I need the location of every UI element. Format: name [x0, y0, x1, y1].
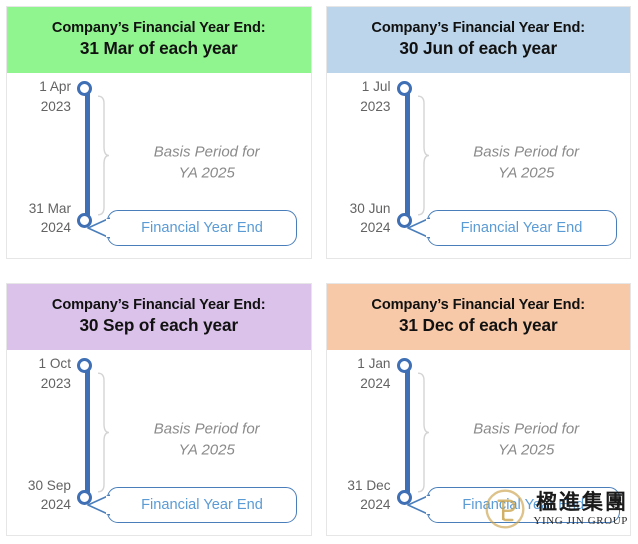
- panel-body-fye-30-sep: 1 Oct 2023 30 Sep 2024 Basis Period for …: [7, 350, 311, 535]
- callout-tail-icon: [406, 492, 430, 518]
- basis-period-text: Basis Period for YA 2025: [111, 418, 303, 461]
- callout-tail-icon: [406, 215, 430, 241]
- timeline-start-node: [397, 81, 412, 96]
- panel-header-fye-30-jun: Company’s Financial Year End: 30 Jun of …: [327, 7, 631, 73]
- callout-label: Financial Year End: [462, 497, 584, 513]
- timeline-end-label-line2: 2024: [7, 495, 71, 515]
- panel-header-fye-31-dec: Company’s Financial Year End: 31 Dec of …: [327, 284, 631, 350]
- callout-label: Financial Year End: [141, 497, 263, 513]
- timeline-start-label: 1 Jul 2023: [327, 77, 391, 116]
- panel-body-fye-31-dec: 1 Jan 2024 31 Dec 2024 Basis Period for …: [327, 350, 631, 535]
- timeline-end-label: 31 Dec 2024: [327, 476, 391, 515]
- panel-body-fye-30-jun: 1 Jul 2023 30 Jun 2024 Basis Period for …: [327, 73, 631, 258]
- timeline-end-label: 31 Mar 2024: [7, 199, 71, 238]
- callout-label: Financial Year End: [141, 220, 263, 236]
- timeline-start-node: [397, 358, 412, 373]
- basis-period-brace-icon: [97, 95, 109, 216]
- basis-period-line1: Basis Period for: [111, 141, 303, 162]
- header-line-1: Company’s Financial Year End:: [371, 19, 585, 37]
- basis-period-brace-icon: [417, 372, 429, 493]
- timeline-start-label: 1 Oct 2023: [7, 354, 71, 393]
- timeline-start-label-line2: 2023: [7, 374, 71, 394]
- basis-period-text: Basis Period for YA 2025: [431, 141, 623, 184]
- basis-period-line1: Basis Period for: [431, 141, 623, 162]
- callout-label: Financial Year End: [461, 220, 583, 236]
- callout-tail-icon: [86, 215, 110, 241]
- timeline-end-label-line1: 30 Sep: [7, 476, 71, 496]
- timeline-start-label-line1: 1 Apr: [7, 77, 71, 97]
- timeline-start-label-line2: 2023: [327, 97, 391, 117]
- timeline-start-label-line1: 1 Oct: [7, 354, 71, 374]
- header-line-1: Company’s Financial Year End:: [52, 296, 266, 314]
- callout-tail-icon: [86, 492, 110, 518]
- basis-period-text: Basis Period for YA 2025: [431, 418, 623, 461]
- timeline-start-label-line1: 1 Jan: [327, 354, 391, 374]
- basis-period-brace-icon: [97, 372, 109, 493]
- timeline-end-label: 30 Sep 2024: [7, 476, 71, 515]
- panel-header-fye-31-mar: Company’s Financial Year End: 31 Mar of …: [7, 7, 311, 73]
- panel-grid: Company’s Financial Year End: 31 Mar of …: [0, 0, 638, 544]
- header-line-2: 31 Mar of each year: [80, 37, 238, 59]
- panel-body-fye-31-mar: 1 Apr 2023 31 Mar 2024 Basis Period for …: [7, 73, 311, 258]
- panel-fye-31-mar: Company’s Financial Year End: 31 Mar of …: [6, 6, 312, 259]
- basis-period-text: Basis Period for YA 2025: [111, 141, 303, 184]
- financial-year-end-callout[interactable]: Financial Year End: [427, 487, 621, 523]
- panel-fye-30-jun: Company’s Financial Year End: 30 Jun of …: [326, 6, 632, 259]
- basis-period-line2: YA 2025: [431, 162, 623, 183]
- financial-year-end-callout[interactable]: Financial Year End: [427, 210, 617, 246]
- financial-year-end-callout[interactable]: Financial Year End: [107, 487, 297, 523]
- header-line-2: 31 Dec of each year: [399, 314, 558, 336]
- timeline-start-label-line2: 2024: [327, 374, 391, 394]
- header-line-1: Company’s Financial Year End:: [371, 296, 585, 314]
- basis-period-line1: Basis Period for: [431, 418, 623, 439]
- basis-period-line2: YA 2025: [111, 162, 303, 183]
- timeline-start-label: 1 Apr 2023: [7, 77, 71, 116]
- timeline-end-label-line2: 2024: [327, 218, 391, 238]
- timeline-end-label-line2: 2024: [327, 495, 391, 515]
- panel-fye-30-sep: Company’s Financial Year End: 30 Sep of …: [6, 283, 312, 536]
- timeline-bar: [405, 87, 410, 222]
- financial-year-end-callout[interactable]: Financial Year End: [107, 210, 297, 246]
- timeline-bar: [85, 87, 90, 222]
- timeline-start-node: [77, 358, 92, 373]
- timeline-bar: [405, 364, 410, 499]
- basis-period-line2: YA 2025: [111, 439, 303, 460]
- timeline-start-label-line1: 1 Jul: [327, 77, 391, 97]
- timeline-start-node: [77, 81, 92, 96]
- basis-period-line2: YA 2025: [431, 439, 623, 460]
- timeline-start-label: 1 Jan 2024: [327, 354, 391, 393]
- basis-period-brace-icon: [417, 95, 429, 216]
- timeline-end-label-line1: 31 Mar: [7, 199, 71, 219]
- panel-header-fye-30-sep: Company’s Financial Year End: 30 Sep of …: [7, 284, 311, 350]
- timeline-end-label: 30 Jun 2024: [327, 199, 391, 238]
- timeline-end-label-line1: 31 Dec: [327, 476, 391, 496]
- timeline-end-label-line2: 2024: [7, 218, 71, 238]
- timeline-bar: [85, 364, 90, 499]
- header-line-2: 30 Sep of each year: [79, 314, 238, 336]
- timeline-end-label-line1: 30 Jun: [327, 199, 391, 219]
- basis-period-line1: Basis Period for: [111, 418, 303, 439]
- header-line-1: Company’s Financial Year End:: [52, 19, 266, 37]
- timeline-start-label-line2: 2023: [7, 97, 71, 117]
- header-line-2: 30 Jun of each year: [399, 37, 557, 59]
- panel-fye-31-dec: Company’s Financial Year End: 31 Dec of …: [326, 283, 632, 536]
